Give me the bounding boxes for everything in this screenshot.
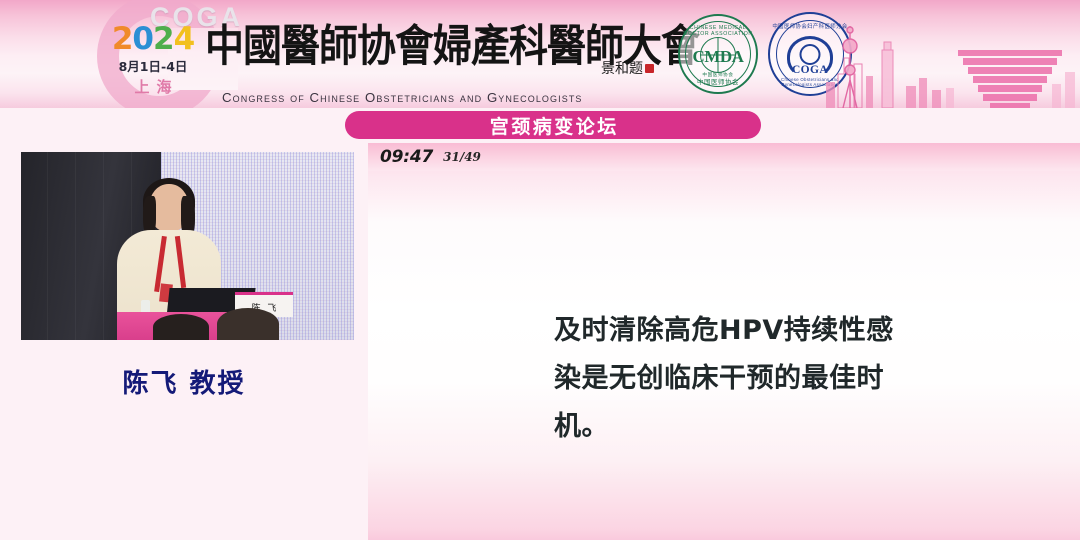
speaker-video-feed[interactable]: 陈 飞 (21, 152, 354, 340)
slide-content[interactable]: 及时清除高危HPV持续性感 染是无创临床干预的最佳时机。 (368, 171, 1080, 540)
audience-head-2 (217, 308, 279, 340)
year-digits: 2024 (110, 24, 196, 55)
forum-title-banner: 宫颈病变论坛 (345, 111, 761, 139)
slide-panel: 09:47 31/49 及时清除高危HPV持续性感 染是无创临床干预的最佳时机。 (368, 143, 1080, 540)
conference-header-banner: COGA 2024 8月1日-4日 上海 中國醫師协會婦產科醫師大會 景和题 C… (0, 0, 1080, 108)
year-digit-3: 2 (153, 21, 174, 57)
speaker-panel: 陈 飞 陈飞 教授 (0, 143, 368, 540)
year-digit-2: 0 (132, 21, 153, 57)
conference-dates: 8月1日-4日 (110, 56, 196, 75)
speaker-name-label: 陈飞 教授 (0, 363, 368, 400)
session-clock: 09:47 (380, 147, 433, 167)
china-art-museum-icon (958, 50, 1062, 108)
broadcast-player: COGA 2024 8月1日-4日 上海 中國醫師协會婦產科醫師大會 景和题 C… (0, 0, 1080, 540)
red-seal-stamp-icon (645, 64, 654, 73)
cmda-arc-top-text: CHINESE MEDICAL DOCTOR ASSOCIATION (680, 25, 756, 37)
coga-baby-figure-icon (800, 44, 821, 65)
audience-head-1 (153, 314, 209, 340)
year-digit-1: 2 (112, 21, 133, 57)
conference-subtitle-en: Congress of Chinese Obstetricians and Gy… (222, 90, 583, 105)
cmda-abbr: CMDA (680, 47, 756, 67)
slide-text-line-1: 及时清除高危HPV持续性感 (554, 307, 914, 355)
year-digit-4: 4 (174, 21, 195, 57)
calligraphy-signature: 景和题 (601, 58, 643, 78)
cmda-cn-text: 中国医师协会 (680, 76, 756, 86)
forum-title-label: 宫颈病变论坛 (487, 112, 619, 139)
shanghai-skyline-illustration (820, 16, 1080, 108)
conference-city: 上海 (110, 76, 196, 97)
slide-text-line-2: 染是无创临床干预的最佳时机。 (554, 355, 914, 451)
cmda-logo: CHINESE MEDICAL DOCTOR ASSOCIATION CMDA … (678, 14, 758, 94)
slide-counter: 31/49 (443, 150, 481, 164)
slide-status-bar: 09:47 31/49 (368, 143, 1080, 171)
year-city-block: 2024 8月1日-4日 上海 (110, 24, 196, 97)
slide-text-block: 及时清除高危HPV持续性感 染是无创临床干预的最佳时机。 (554, 307, 914, 451)
